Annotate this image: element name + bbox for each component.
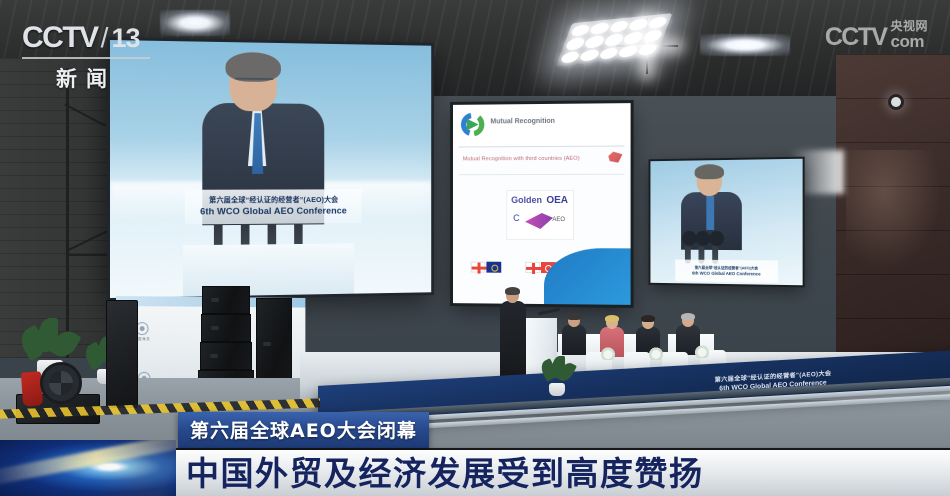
table-flower-arrangement (648, 346, 664, 360)
slide-divider (459, 146, 625, 148)
presentation-slide-screen: Mutual Recognition Mutual Recognition wi… (453, 103, 631, 305)
eu-flag-icon (487, 261, 502, 272)
panelist-hair (681, 313, 695, 320)
table-flower-arrangement (694, 344, 710, 358)
mutual-recognition-logo-icon (461, 113, 485, 137)
left-truss-wall (0, 58, 118, 358)
slide-divider-2 (459, 174, 625, 175)
panelist (562, 314, 586, 354)
panelist-hair (605, 315, 619, 322)
kicker-text: 第六届全球AEO大会闭幕 (190, 420, 417, 442)
broadcast-frame: 第六届全球“经认证的经营者”(AEO)大会 6th WCO Global AEO… (0, 0, 950, 496)
ceiling-light-panel (555, 13, 672, 67)
slide-red-logo-icon (608, 152, 622, 163)
screen-caption-en: 6th WCO Global AEO Conference (192, 206, 355, 218)
badge-sub-text: C (513, 213, 519, 223)
logo-slash: / (101, 22, 109, 54)
stage-fan-icon (40, 362, 82, 404)
screen-caption: 第六届全球“经认证的经营者”(AEO)大会 6th WCO Global AEO… (185, 189, 362, 224)
panelist-hair (641, 315, 655, 322)
watermark-cn-text: 央视网 (890, 20, 928, 32)
speaker-glasses-icon (235, 78, 273, 87)
wall-spotlight-icon (888, 94, 904, 110)
main-led-screen: 第六届全球“经认证的经营者”(AEO)大会 6th WCO Global AEO… (110, 40, 431, 298)
logo-divider (22, 57, 150, 59)
panelist-hair (567, 313, 581, 320)
channel-number: 13 (111, 23, 139, 54)
badge-small-text: AEO (552, 217, 565, 223)
secondary-caption-en: 6th WCO Global AEO Conference (692, 271, 761, 277)
channel-logo: CCTV / 13 新闻 (22, 22, 150, 93)
lens-flare-horizontal (616, 45, 678, 47)
truss-vertical (66, 68, 69, 358)
slide-title: Mutual Recognition (490, 118, 555, 126)
truss-brace-2 (66, 230, 108, 252)
secondary-led-screen: 第六届全球“经认证的经营者”(AEO)大会 6th WCO Global AEO… (650, 159, 802, 286)
badge-left-text: Golden (511, 195, 542, 205)
secondary-speaker-tie (706, 196, 714, 230)
secondary-speaker-hair (695, 164, 724, 179)
headline-text: 中国外贸及经济发展受到高度赞扬 (186, 457, 704, 490)
lower-third-decoration-graphic (0, 440, 176, 496)
line-array-speaker (202, 286, 250, 314)
watermark-cctv-wordmark: CCTV (825, 25, 887, 50)
watermark-domain-text: com (890, 33, 923, 50)
line-array-speaker (200, 342, 252, 370)
georgia-flag-icon (471, 261, 486, 272)
panelist-body (562, 325, 586, 355)
cctv-wordmark: CCTV (22, 23, 98, 53)
secondary-screen-caption: 第六届全球“经认证的经营者”(AEO)大会 6th WCO Global AEO… (675, 260, 778, 283)
lower-third-kicker: 第六届全球AEO大会闭幕 (178, 412, 429, 448)
plant-pot (549, 383, 565, 396)
lower-third-headline-bar: 中国外贸及经济发展受到高度赞扬 (0, 450, 950, 496)
line-array-speaker (201, 314, 251, 342)
badge-right-text: OEA (546, 195, 568, 206)
georgia-flag-icon (526, 261, 541, 272)
screen-caption-cn: 第六届全球“经认证的经营者”(AEO)大会 (192, 195, 355, 205)
flag-pair-georgia-eu (471, 261, 502, 272)
decorative-plant (540, 356, 574, 396)
right-wall-glow (846, 150, 942, 270)
stage-equipment-case (106, 300, 138, 408)
cctv-dot-com-watermark: CCTV 央视网 com (825, 20, 928, 50)
channel-name-cn: 新闻 (22, 63, 150, 93)
table-flower-arrangement (600, 346, 616, 360)
badge-wing-icon (525, 213, 553, 229)
ceiling-glow-right (700, 34, 790, 56)
truss-brace-1 (64, 103, 106, 126)
stage-speaker-hair (505, 287, 520, 295)
slide-bullet-text: Mutual Recognition with third countries … (463, 156, 580, 163)
ceiling-glow-left (160, 10, 230, 36)
truss-brace-3 (66, 254, 110, 256)
aeo-badge-graphic: Golden OEA C AEO (506, 190, 574, 240)
